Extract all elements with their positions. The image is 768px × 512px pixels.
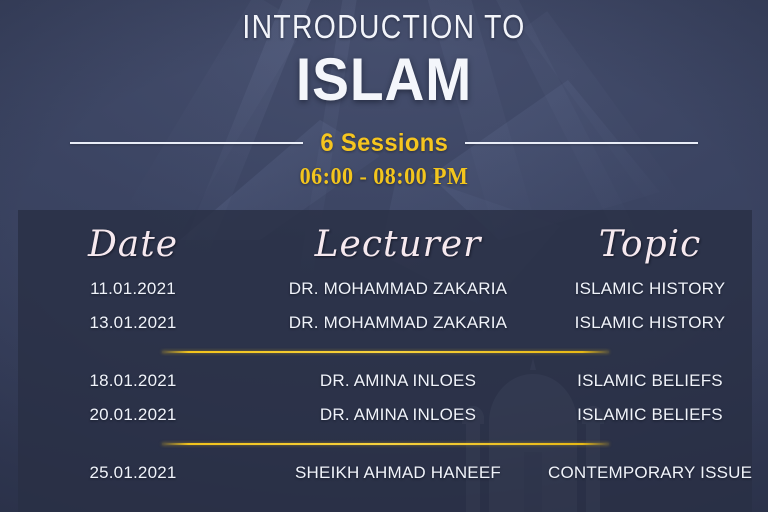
cell-topic: ISLAMIC BELIEFS — [577, 405, 723, 424]
table-row: 11.01.2021 DR. MOHAMMAD ZAKARIA ISLAMIC … — [18, 272, 752, 306]
sessions-count-label: 6 Sessions — [320, 129, 448, 158]
poster: INTRODUCTION TO ISLAM 6 Sessions 06:00 -… — [0, 0, 768, 512]
table-row: 25.01.2021 SHEIKH AHMAD HANEEF CONTEMPOR… — [18, 456, 752, 490]
cell-date: 25.01.2021 — [89, 463, 176, 482]
cell-lecturer: DR. MOHAMMAD ZAKARIA — [289, 313, 507, 332]
sessions-banner: 6 Sessions — [0, 129, 768, 158]
cell-lecturer: DR. AMINA INLOES — [320, 405, 476, 424]
cell-topic: ISLAMIC BELIEFS — [577, 371, 723, 390]
session-time-label: 06:00 - 08:00 PM — [31, 164, 738, 191]
cell-date: 11.01.2021 — [90, 279, 176, 298]
cell-date: 20.01.2021 — [89, 405, 176, 424]
cell-lecturer: DR. MOHAMMAD ZAKARIA — [289, 279, 507, 298]
cell-date: 18.01.2021 — [89, 371, 176, 390]
cell-lecturer: DR. AMINA INLOES — [320, 371, 476, 390]
column-header-date: Date — [88, 224, 178, 265]
divider-left — [70, 142, 303, 144]
table-row: 20.01.2021 DR. AMINA INLOES ISLAMIC BELI… — [18, 398, 752, 432]
schedule-table-body: 11.01.2021 DR. MOHAMMAD ZAKARIA ISLAMIC … — [18, 272, 752, 490]
column-header-topic: Topic — [599, 224, 702, 265]
poster-header: INTRODUCTION TO ISLAM 6 Sessions 06:00 -… — [0, 0, 768, 191]
group-divider — [18, 432, 752, 456]
table-row: 18.01.2021 DR. AMINA INLOES ISLAMIC BELI… — [18, 364, 752, 398]
column-header-lecturer: Lecturer — [315, 224, 482, 265]
cell-topic: ISLAMIC HISTORY — [575, 279, 726, 298]
cell-topic: CONTEMPORARY ISSUES — [548, 463, 752, 482]
group-divider — [18, 340, 752, 364]
cell-lecturer: SHEIKH AHMAD HANEEF — [295, 463, 501, 482]
schedule-panel: Date Lecturer Topic 11.01.2021 DR. MOHAM… — [18, 210, 752, 512]
cell-date: 13.01.2021 — [89, 313, 176, 332]
divider-right — [465, 142, 698, 144]
schedule-table-header: Date Lecturer Topic — [18, 210, 752, 272]
page-title-subline: INTRODUCTION TO — [54, 8, 714, 46]
page-title: ISLAM — [31, 48, 738, 111]
cell-topic: ISLAMIC HISTORY — [575, 313, 726, 332]
table-row: 13.01.2021 DR. MOHAMMAD ZAKARIA ISLAMIC … — [18, 306, 752, 340]
